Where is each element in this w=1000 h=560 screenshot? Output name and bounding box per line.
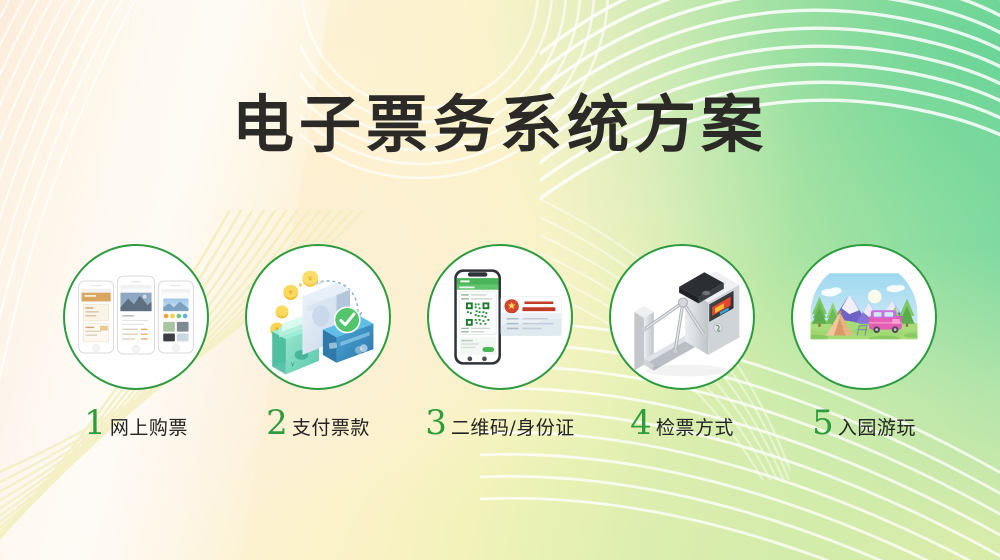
step-2[interactable]: ¥ ¥ ¥ (245, 244, 391, 440)
svg-text:¥: ¥ (308, 275, 313, 283)
step-5-caption: 5 入园游玩 (812, 406, 916, 440)
step-1-label: 网上购票 (110, 419, 188, 438)
step-4-illustration-circle[interactable] (609, 244, 755, 390)
qrcode-phone-id-card-icon (429, 246, 571, 388)
step-2-number: 2 (266, 406, 288, 440)
step-3[interactable]: 3 二维码/身份证 (427, 244, 573, 440)
steps-row: 1 网上购票 (0, 244, 1000, 440)
step-4-caption: 4 检票方式 (630, 406, 734, 440)
page-title: 电子票务系统方案 (0, 92, 1000, 159)
step-5[interactable]: 5 入园游玩 (791, 244, 937, 440)
slide-canvas: 电子票务系统方案 (0, 0, 1000, 560)
step-1-caption: 1 网上购票 (84, 406, 188, 440)
step-5-label: 入园游玩 (838, 419, 916, 438)
step-1-number: 1 (84, 406, 106, 440)
step-2-caption: 2 支付票款 (266, 406, 370, 440)
camping-park-scenery-icon (793, 246, 935, 388)
step-4[interactable]: 4 检票方式 (609, 244, 755, 440)
svg-text:￥: ￥ (290, 362, 296, 369)
step-1[interactable]: 1 网上购票 (63, 244, 209, 440)
step-3-number: 3 (425, 406, 447, 440)
svg-text:¥: ¥ (289, 290, 293, 297)
step-1-illustration-circle[interactable] (63, 244, 209, 390)
step-3-caption: 3 二维码/身份证 (425, 406, 575, 440)
step-4-number: 4 (630, 406, 652, 440)
step-5-number: 5 (812, 406, 834, 440)
tripod-turnstile-gate-icon (611, 246, 753, 388)
wallet-coins-card-payment-icon: ¥ ¥ ¥ (247, 246, 389, 388)
step-3-label: 二维码/身份证 (451, 419, 575, 438)
step-3-illustration-circle[interactable] (427, 244, 573, 390)
step-2-label: 支付票款 (292, 419, 370, 438)
step-4-label: 检票方式 (656, 419, 734, 438)
three-smartphones-booking-app-icon (65, 246, 207, 388)
step-5-illustration-circle[interactable] (791, 244, 937, 390)
step-2-illustration-circle[interactable]: ¥ ¥ ¥ (245, 244, 391, 390)
